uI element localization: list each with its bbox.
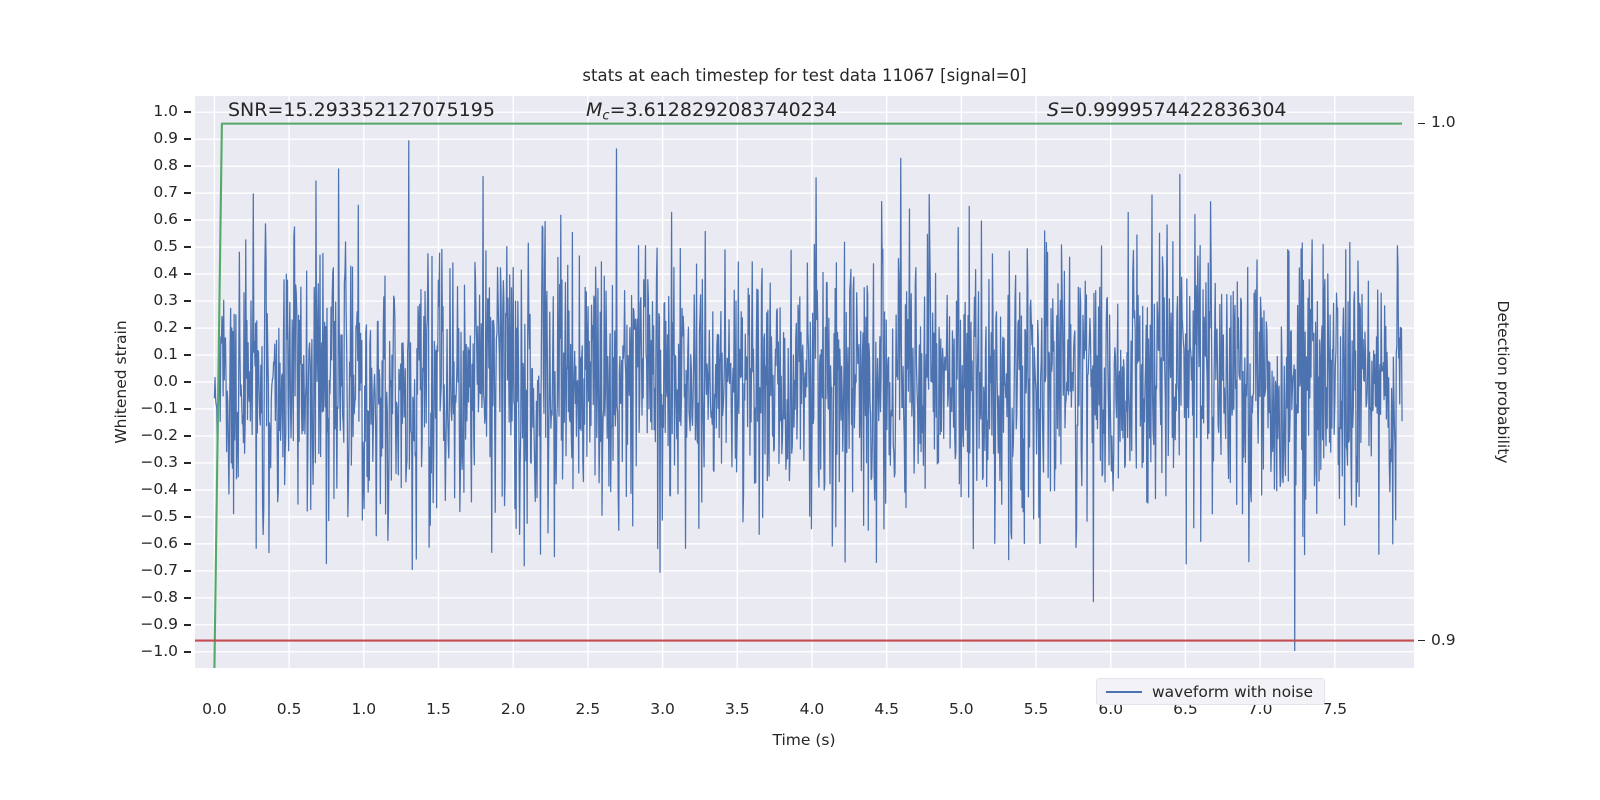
y-axis-left-tick-label: 0.8 — [118, 156, 178, 174]
chart-title: stats at each timestep for test data 110… — [195, 66, 1414, 85]
legend-label-waveform: waveform with noise — [1152, 683, 1313, 701]
y-axis-left-tick-label: −0.6 — [118, 534, 178, 552]
y-axis-right-tick-label: 1.0 — [1431, 113, 1456, 131]
y-axis-left-tick-label: 0.6 — [118, 210, 178, 228]
x-axis-tick-label: 4.5 — [874, 700, 899, 718]
x-axis-tick-label: 3.0 — [650, 700, 675, 718]
annotation-symbol: S — [1047, 99, 1059, 121]
y-axis-left-tick-label: −0.4 — [118, 480, 178, 498]
x-axis-tick-label: 2.5 — [576, 700, 601, 718]
annotation-value: =0.9999574422836304 — [1059, 99, 1286, 121]
x-axis-tick-label: 1.0 — [351, 700, 376, 718]
y-axis-left-tick-mark — [184, 327, 191, 329]
y-axis-left-tick-mark — [184, 624, 191, 626]
x-axis-tick-label: 0.0 — [202, 700, 227, 718]
plot-area — [195, 96, 1414, 668]
y-axis-right-tick-mark — [1418, 640, 1425, 642]
y-axis-left-tick-mark — [184, 246, 191, 248]
y-axis-right-tick-mark — [1418, 123, 1425, 125]
x-axis-tick-label: 7.5 — [1322, 700, 1347, 718]
annotation-chirp-mass: Mc=3.6128292083740234 — [586, 99, 837, 123]
chart-legend[interactable]: waveform with noise — [1096, 678, 1325, 705]
annotation-detection-score: S=0.9999574422836304 — [1047, 99, 1287, 121]
y-axis-left-tick-mark — [184, 273, 191, 275]
y-axis-left-tick-mark — [184, 381, 191, 383]
annotation-subscript: c — [602, 108, 609, 123]
y-axis-left-tick-label: 0.3 — [118, 291, 178, 309]
annotation-symbol: M — [586, 99, 602, 121]
plot-svg — [195, 96, 1414, 668]
x-axis-tick-label: 1.5 — [426, 700, 451, 718]
y-axis-left-tick-mark — [184, 408, 191, 410]
y-axis-left-tick-label: −0.3 — [118, 453, 178, 471]
y-axis-left-tick-mark — [184, 192, 191, 194]
y-axis-left-tick-label: 1.0 — [118, 102, 178, 120]
y-axis-left-tick-mark — [184, 462, 191, 464]
y-axis-left-tick-mark — [184, 516, 191, 518]
annotation-value: =3.6128292083740234 — [610, 99, 837, 121]
y-axis-left-tick-mark — [184, 489, 191, 491]
y-axis-right-label: Detection probability — [1494, 301, 1512, 464]
y-axis-left-tick-mark — [184, 300, 191, 302]
annotation-snr: SNR=15.293352127075195 — [228, 99, 495, 121]
x-axis-tick-label: 3.5 — [725, 700, 750, 718]
legend-swatch-waveform — [1106, 691, 1142, 693]
y-axis-left-tick-label: 0.7 — [118, 183, 178, 201]
x-axis-tick-label: 5.0 — [949, 700, 974, 718]
annotation-value: =15.293352127075195 — [267, 99, 494, 121]
y-axis-left-tick-mark — [184, 651, 191, 653]
y-axis-left-tick-mark — [184, 138, 191, 140]
y-axis-left-tick-label: −1.0 — [118, 642, 178, 660]
y-axis-left-tick-label: −0.8 — [118, 588, 178, 606]
annotation-symbol: SNR — [228, 99, 267, 121]
y-axis-left-tick-mark — [184, 219, 191, 221]
y-axis-left-tick-mark — [184, 111, 191, 113]
y-axis-left-tick-label: −0.7 — [118, 561, 178, 579]
y-axis-left-tick-mark — [184, 165, 191, 167]
x-axis-tick-label: 0.5 — [277, 700, 302, 718]
y-axis-left-tick-mark — [184, 597, 191, 599]
x-axis-tick-label: 2.0 — [501, 700, 526, 718]
y-axis-left-tick-label: 0.9 — [118, 129, 178, 147]
series-waveform-with-noise — [214, 141, 1402, 651]
y-axis-left-tick-label: −0.5 — [118, 507, 178, 525]
y-axis-left-label: Whitened strain — [112, 320, 130, 443]
y-axis-left-tick-mark — [184, 354, 191, 356]
matplotlib-figure: stats at each timestep for test data 110… — [0, 0, 1600, 800]
y-axis-left-tick-label: −0.9 — [118, 615, 178, 633]
x-axis-tick-label: 4.0 — [800, 700, 825, 718]
y-axis-left-tick-mark — [184, 543, 191, 545]
y-axis-left-tick-mark — [184, 435, 191, 437]
y-axis-left-tick-mark — [184, 570, 191, 572]
x-axis-label: Time (s) — [772, 731, 835, 749]
x-axis-tick-label: 5.5 — [1024, 700, 1049, 718]
y-axis-right-tick-label: 0.9 — [1431, 631, 1456, 649]
y-axis-left-tick-label: 0.5 — [118, 237, 178, 255]
y-axis-left-tick-label: 0.4 — [118, 264, 178, 282]
